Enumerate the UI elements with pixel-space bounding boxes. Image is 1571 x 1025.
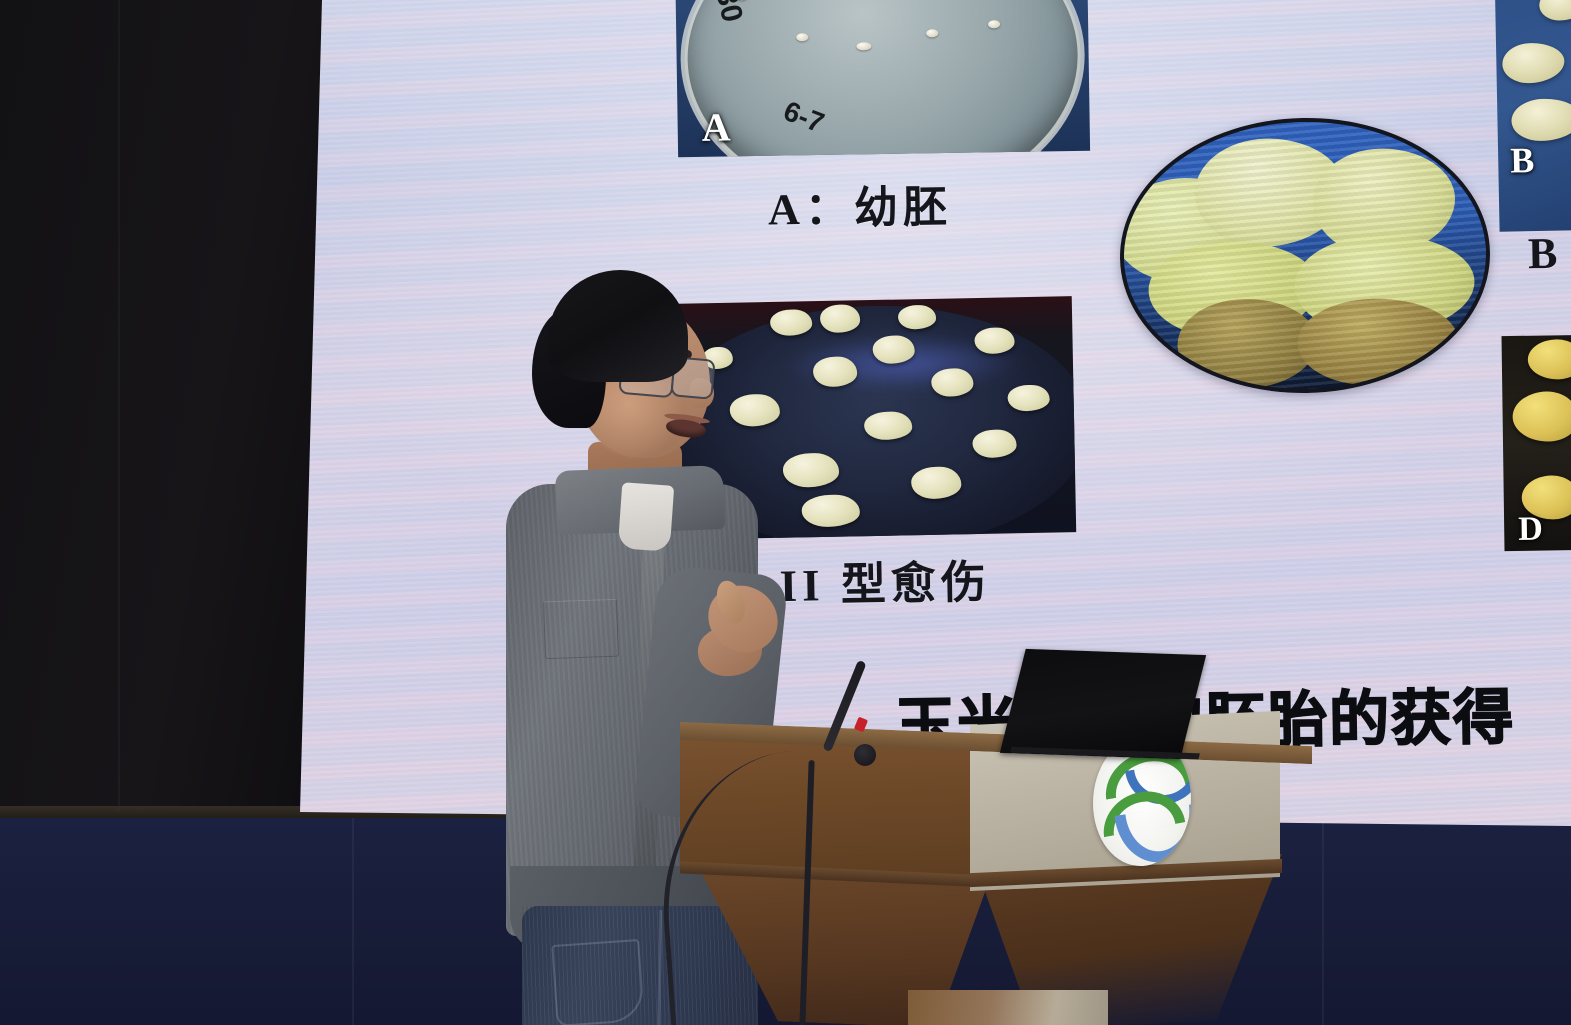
inner-collar xyxy=(618,482,674,551)
wall-lower-seam-1 xyxy=(352,818,354,1025)
laptop-screen[interactable] xyxy=(1000,649,1206,759)
speaker-hair xyxy=(548,270,688,382)
shirt-pocket xyxy=(543,599,619,660)
presentation-photo: 78 30 6-7 A xyxy=(0,0,1571,1025)
podium-column xyxy=(908,990,1108,1025)
wall-seam xyxy=(118,0,120,812)
podium xyxy=(680,700,1310,1025)
wall-upper-dark xyxy=(0,0,330,812)
wall-lower-seam-2 xyxy=(1322,818,1324,1025)
jeans-pocket xyxy=(551,939,645,1025)
microphone-base xyxy=(854,744,876,766)
